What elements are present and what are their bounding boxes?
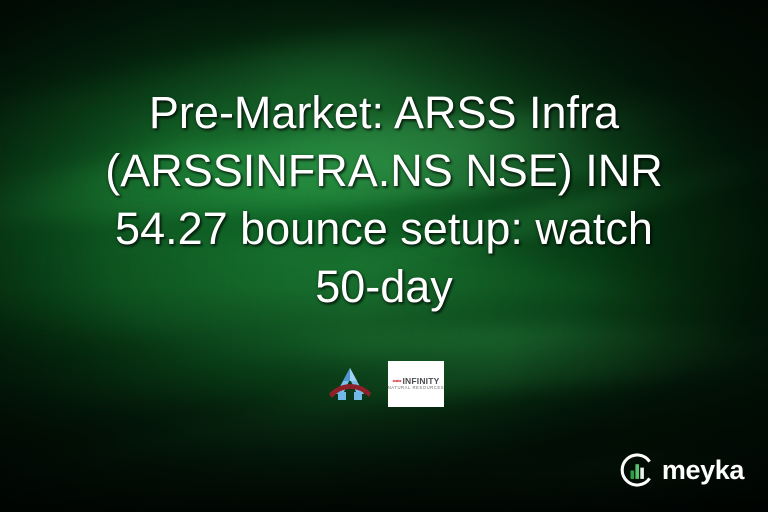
arss-infra-logo	[324, 360, 376, 408]
infinity-symbol-icon: ∞∞	[393, 378, 401, 385]
infinity-natural-resources-logo: ∞∞ INFINITY NATURAL RESOURCES	[388, 361, 444, 407]
headline-text: Pre-Market: ARSS Infra (ARSSINFRA.NS NSE…	[34, 84, 734, 316]
logo-row: ∞∞ INFINITY NATURAL RESOURCES	[0, 358, 768, 410]
meyka-wordmark: meyka	[662, 455, 744, 485]
social-share-card: Pre-Market: ARSS Infra (ARSSINFRA.NS NSE…	[0, 0, 768, 512]
infinity-logo-subtitle: NATURAL RESOURCES	[388, 386, 444, 392]
meyka-brand: meyka	[619, 452, 744, 488]
meyka-bar-chart-ring-icon	[619, 452, 655, 488]
